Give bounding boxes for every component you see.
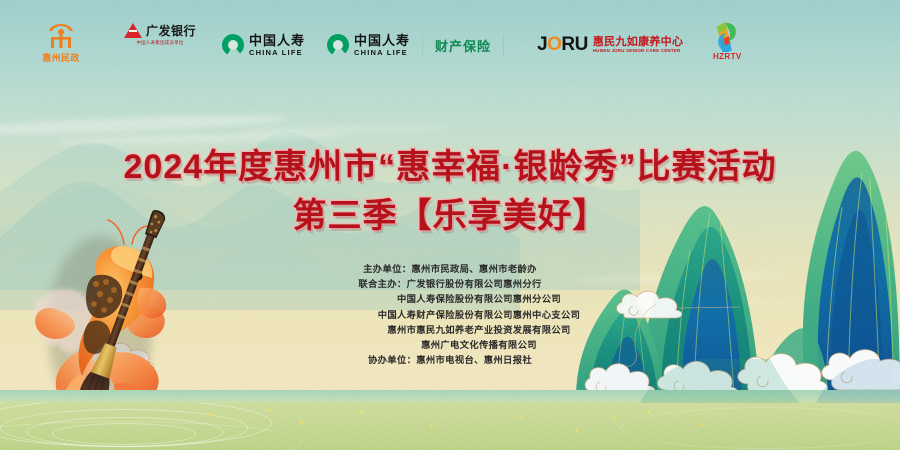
credit-text: 惠州市民政局、惠州市老龄办 [411,264,536,274]
china-life-en: CHINA LIFE [249,48,305,57]
credit-row: 惠州市惠民九如养老产业投资发展有限公司 [0,323,900,338]
logo-joru: JORU 惠民九如康养中心 HUIMIN JORU SENIOR CARE CE… [537,22,683,68]
title-line-1: 2024年度惠州市“惠幸福·银龄秀”比赛活动 [0,146,900,189]
credit-label: 联合主办： [358,277,406,292]
logo-hztv: HZRTV [711,22,743,68]
credit-row: 惠州广电文化传播有限公司 [0,338,900,353]
cgb-name: 广发银行 [146,22,196,39]
china-life-property-cn: 中国人寿 [354,34,410,48]
joru-cn: 惠民九如康养中心 [593,36,683,48]
credit-text: 惠州市惠民九如养老产业投资发展有限公司 [387,325,570,335]
credit-text: 惠州广电文化传播有限公司 [421,340,537,350]
credit-text: 惠州市电视台、惠州日报社 [416,355,532,365]
credit-row: 协办单位：惠州市电视台、惠州日报社 [0,353,900,368]
hztv-label: HZRTV [713,52,742,61]
hztv-mark-icon [711,22,743,52]
poster-title: 2024年度惠州市“惠幸福·银龄秀”比赛活动 第三季【乐享美好】 [0,146,900,238]
civil-affairs-icon [46,22,76,50]
logo-hz-civil-affairs: 惠州民政 [28,22,94,68]
credit-text: 中国人寿保险股份有限公司惠州分公司 [397,294,561,304]
credit-row: 中国人寿保险股份有限公司惠州分公司 [0,292,900,307]
logo-china-life: 中国人寿 CHINA LIFE [222,22,305,68]
water-surface [0,403,900,450]
joru-wordmark: JORU [537,34,588,56]
china-life-property-mark-icon [327,34,349,56]
credit-row: 主办单位：惠州市民政局、惠州市老龄办 [0,262,900,277]
logo-divider [422,34,423,56]
china-life-cn: 中国人寿 [249,34,305,48]
title-line-2: 第三季【乐享美好】 [0,195,900,238]
joru-en: HUIMIN JORU SENIOR CARE CENTER [593,48,683,54]
logo-cgb-bank: 广发银行 中国人寿集团成员单位 [124,22,196,68]
organiser-credits: 主办单位：惠州市民政局、惠州市老龄办 联合主办：广发银行股份有限公司惠州分行 中… [0,262,900,368]
cgb-subtitle: 中国人寿集团成员单位 [137,40,184,46]
civil-affairs-label: 惠州民政 [42,51,80,64]
china-life-property-en: CHINA LIFE [354,48,410,57]
poster-canvas: 惠州民政 广发银行 中国人寿集团成员单位 中国人寿 CHINA LIFE 中国人… [0,0,900,450]
sponsor-logo-bar: 惠州民政 广发银行 中国人寿集团成员单位 中国人寿 CHINA LIFE 中国人… [0,22,900,68]
cgb-triangle-icon [124,23,142,38]
credit-row: 联合主办：广发银行股份有限公司惠州分行 [0,277,900,292]
credit-text: 广发银行股份有限公司惠州分行 [407,279,542,289]
logo-china-life-property: 中国人寿 CHINA LIFE 财产保险 [327,22,511,68]
credit-label: 主办单位： [363,262,411,277]
credit-text: 中国人寿财产保险股份有限公司惠州中心支公司 [378,310,581,320]
credit-label: 协办单位： [368,353,416,368]
property-insurance-label: 财产保险 [435,36,491,55]
logo-divider [503,34,504,56]
credit-row: 中国人寿财产保险股份有限公司惠州中心支公司 [0,308,900,323]
china-life-mark-icon [222,34,244,56]
